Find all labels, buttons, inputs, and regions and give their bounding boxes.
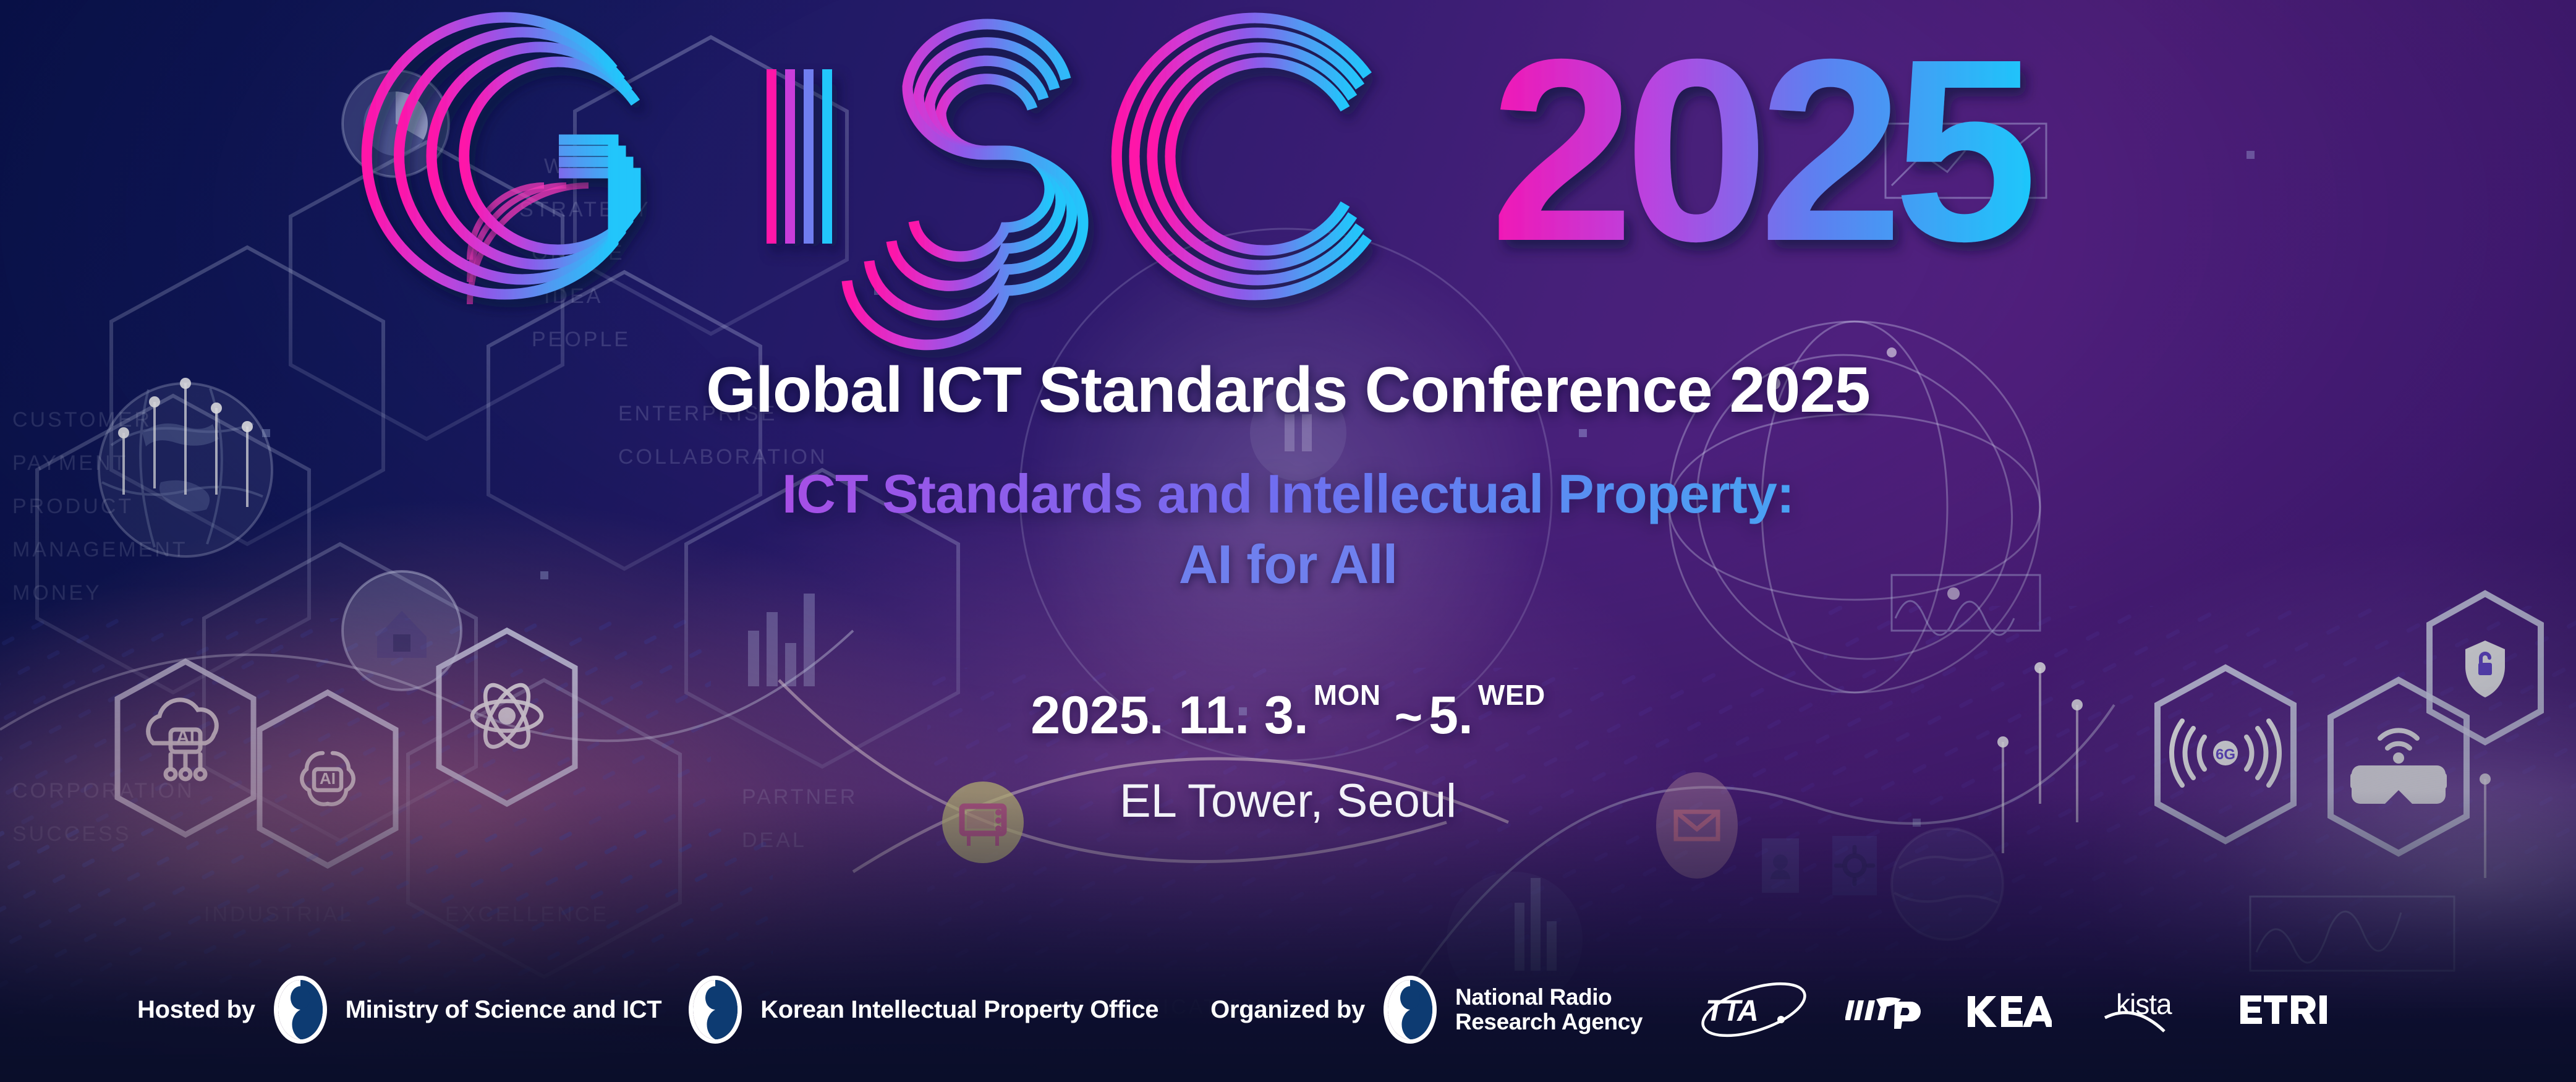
svg-text:2025: 2025 [1490,6,2031,296]
partner-logo-kea [1965,991,2052,1028]
kea-logo [1965,991,2052,1028]
partner-logo-kista: kista [2104,982,2212,1037]
etri-logo [2239,992,2332,1028]
korea-government-taegeuk-icon [1384,976,1437,1044]
banner-stage: AI AI [0,0,2576,1082]
partner-logo-tta: TTA [1694,981,1818,1038]
event-date: 2025. 11. 3.MON~5.WED [0,685,2576,746]
organizer-name-line-2: Research Agency [1455,1010,1643,1034]
organized-by-label: Organized by [1210,996,1365,1024]
date-start: 2025. 11. 3. [1031,686,1309,745]
host-korean-intellectual-property-office: Korean Intellectual Property Office [689,976,1158,1044]
theme-line-2: AI for All [0,533,2576,596]
date-start-day: MON [1314,679,1381,711]
host-ministry-of-science-and-ict: Ministry of Science and ICT [274,976,662,1044]
event-venue: EL Tower, Seoul [0,774,2576,828]
partner-logo-etri [2239,992,2332,1028]
theme-line-1: ICT Standards and Intellectual Property: [0,462,2576,526]
korea-government-taegeuk-icon [689,976,742,1044]
page-title: Global ICT Standards Conference 2025 [0,354,2576,427]
host-name: Ministry of Science and ICT [346,996,662,1024]
tta-logo: TTA [1694,981,1818,1038]
iitp-logo [1845,989,1938,1030]
date-separator: ~ [1395,689,1423,744]
date-end: 5. [1429,686,1473,745]
organizer-national-radio-research-agency: National Radio Research Agency [1384,976,1643,1044]
gisc-wordmark: 2025 [476,30,2108,277]
footer-logo-bar: Hosted by Ministry of Science and ICT [0,969,2576,1050]
host-name: Korean Intellectual Property Office [760,996,1158,1024]
hosted-by-label: Hosted by [137,996,255,1024]
kista-logo: kista [2104,982,2212,1037]
svg-text:TTA: TTA [1706,995,1758,1028]
organizer-name-line-1: National Radio [1455,985,1643,1010]
date-end-day: WED [1478,679,1545,711]
partner-logo-iitp [1845,989,1938,1030]
svg-text:kista: kista [2116,988,2172,1020]
korea-government-taegeuk-icon [274,976,327,1044]
